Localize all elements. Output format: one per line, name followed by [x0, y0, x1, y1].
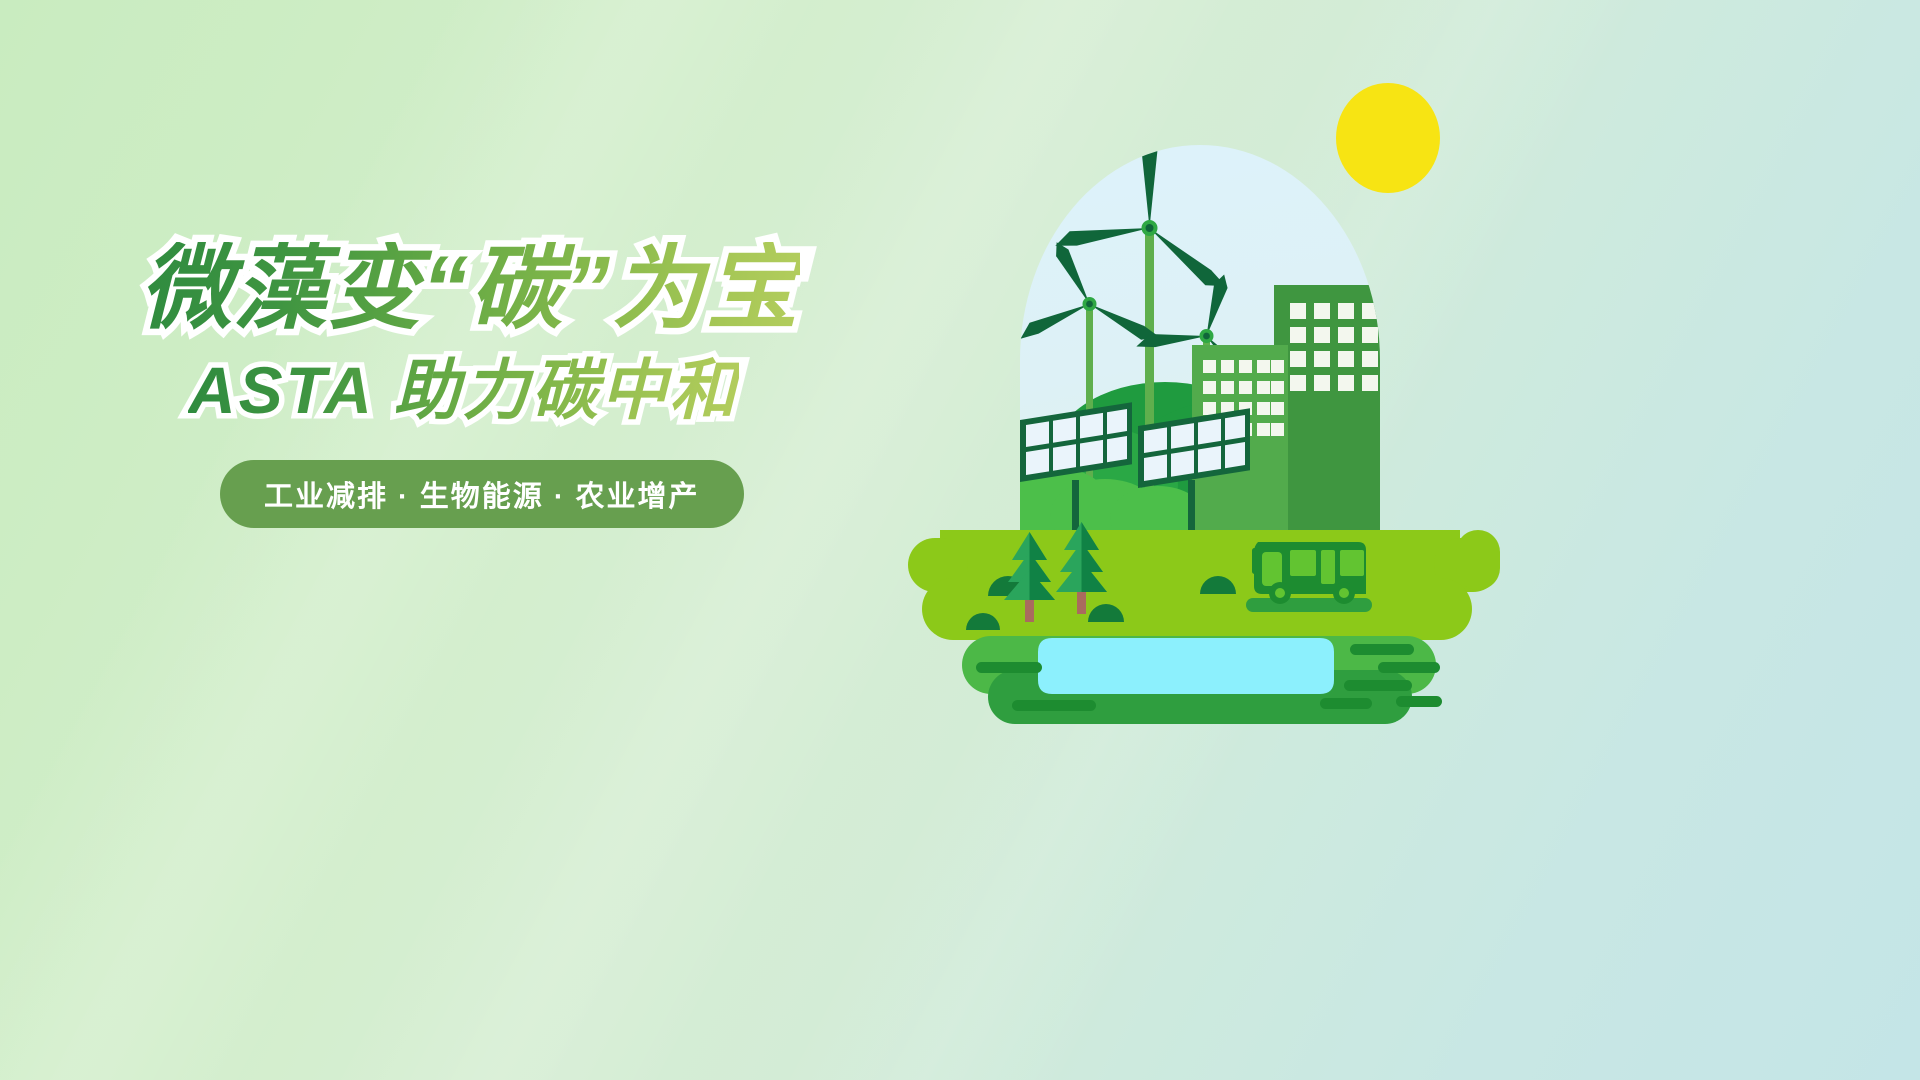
page-title: 微藻变“碳”为宝 — [140, 242, 800, 338]
buildings — [1274, 285, 1386, 535]
eco-city-illustration — [900, 60, 1540, 680]
bus-road — [1246, 598, 1372, 612]
bus-icon — [1246, 542, 1372, 612]
building-back — [1274, 285, 1386, 535]
page-subtitle: ASTA 助力碳中和 — [188, 356, 739, 425]
sun-icon — [1336, 83, 1440, 193]
tagline-pill: 工业减排 · 生物能源 · 农业增产 — [220, 460, 744, 528]
poster-text-block: 微藻变“碳”为宝 ASTA 助力碳中和 工业减排 · 生物能源 · 农业增产 — [140, 242, 900, 528]
lake — [1038, 638, 1334, 694]
